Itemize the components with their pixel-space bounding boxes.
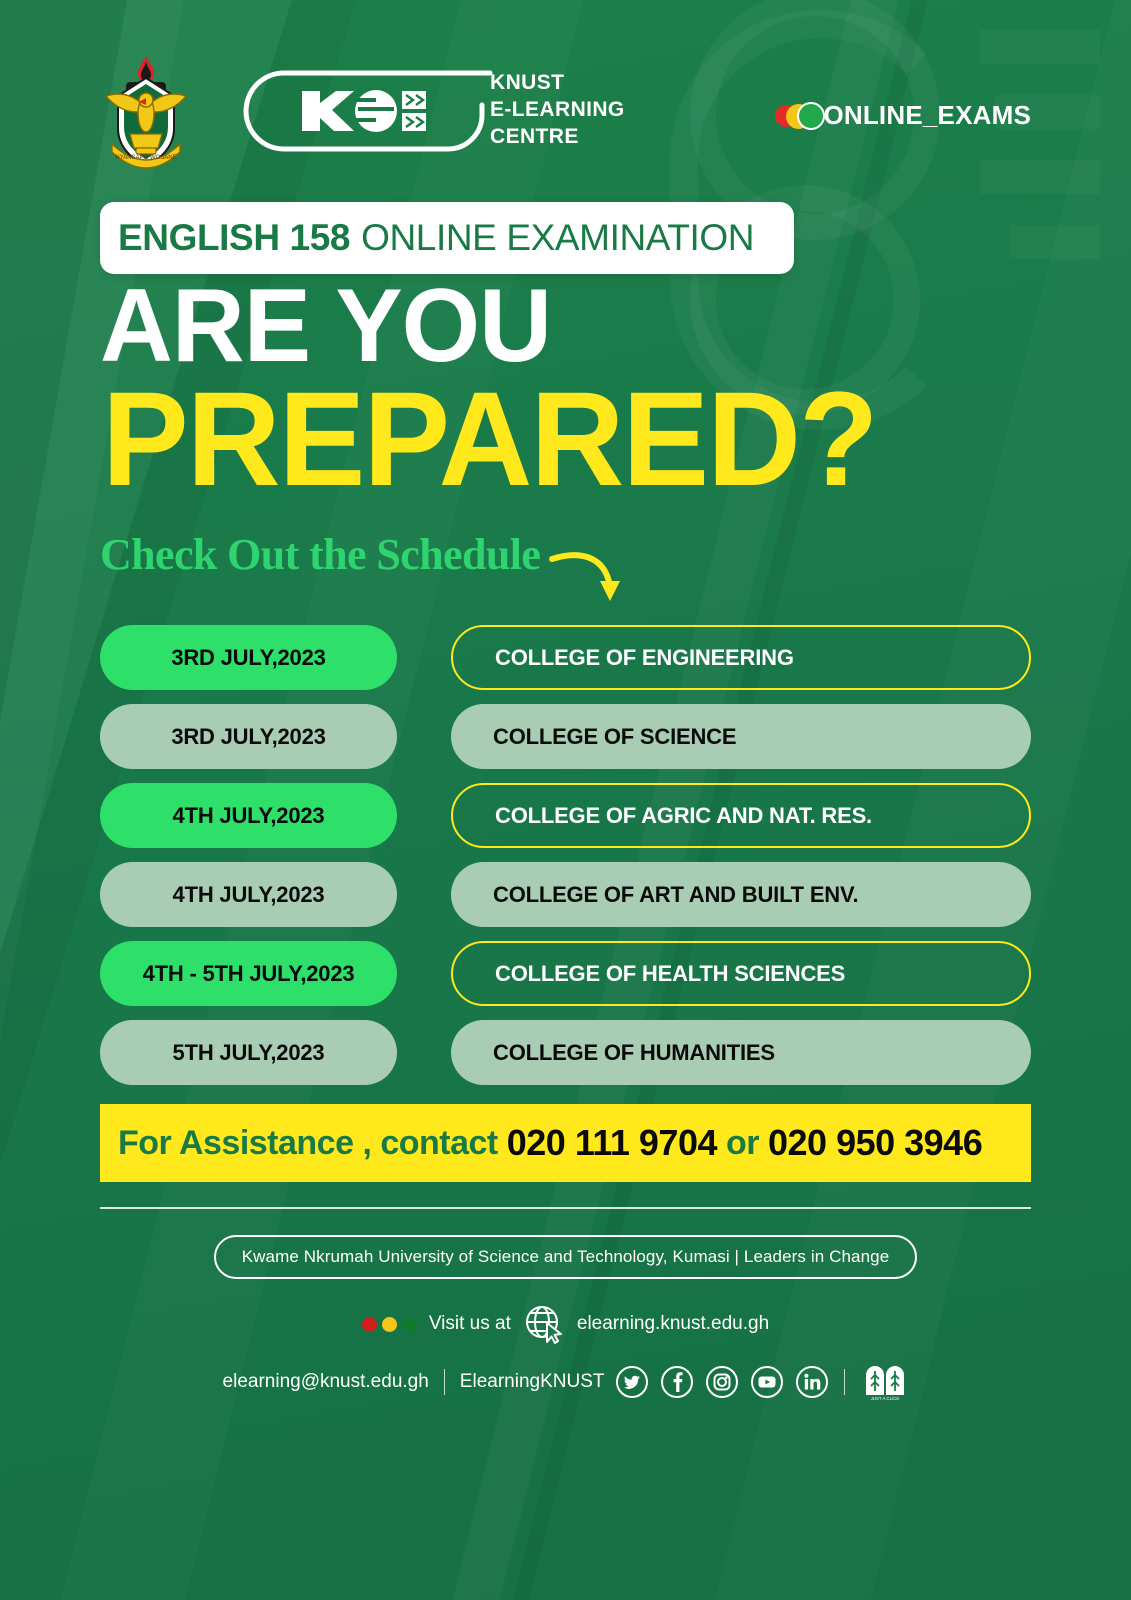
schedule-college: COLLEGE OF HEALTH SCIENCES (451, 941, 1031, 1006)
assistance-lead: For Assistance , contact (118, 1124, 498, 1163)
exam-course-code: ENGLISH 158 (118, 217, 350, 259)
poster: NYANSAPO WOSANE KNUST E-LEAR (0, 0, 1131, 1600)
exam-title-rest: ONLINE EXAMINATION (361, 217, 754, 259)
online-exams-label: ONLINE_EXAMS (823, 100, 1031, 131)
exam-title-banner: ENGLISH 158 ONLINE EXAMINATION (100, 202, 794, 274)
linkedin-icon[interactable] (795, 1365, 829, 1399)
schedule-row: 4TH JULY,2023 COLLEGE OF ART AND BUILT E… (100, 862, 1031, 927)
contact-email[interactable]: elearning@knust.edu.gh (223, 1371, 429, 1393)
schedule-college: COLLEGE OF SCIENCE (451, 704, 1031, 769)
assistance-phone-1: 020 111 9704 (507, 1122, 717, 1164)
footer-divider (100, 1207, 1031, 1209)
svg-text:NYANSAPO WOSANE: NYANSAPO WOSANE (115, 155, 176, 161)
assistance-phone-2: 020 950 3946 (768, 1122, 982, 1164)
tagline-row: Kwame Nkrumah University of Science and … (100, 1235, 1031, 1279)
traffic-dots-icon (775, 102, 823, 130)
twitter-icon[interactable] (615, 1365, 649, 1399)
kec-wordmark: KNUST E-LEARNING CENTRE (490, 70, 625, 151)
schedule-heading-label: Check Out the Schedule (100, 529, 540, 580)
ghana-dots-icon (362, 1317, 417, 1332)
kec-line-1: KNUST (490, 70, 625, 97)
just-a-click-label: JUST A CLICK (871, 1396, 900, 1401)
knust-crest-icon: NYANSAPO WOSANE (100, 48, 192, 173)
schedule-row: 3RD JULY,2023 COLLEGE OF SCIENCE (100, 704, 1031, 769)
schedule-date: 3RD JULY,2023 (100, 704, 397, 769)
partner-separator (844, 1369, 845, 1395)
schedule-heading: Check Out the Schedule (100, 529, 1031, 607)
facebook-icon[interactable] (660, 1365, 694, 1399)
header: NYANSAPO WOSANE KNUST E-LEAR (100, 0, 1031, 155)
assistance-conjunction: or (726, 1124, 759, 1163)
headline-line-1: ARE YOU (100, 278, 1003, 376)
schedule-college: COLLEGE OF HUMANITIES (451, 1020, 1031, 1085)
kec-line-3: CENTRE (490, 124, 625, 151)
social-handle: ElearningKNUST (460, 1371, 605, 1393)
schedule-college: COLLEGE OF ENGINEERING (451, 625, 1031, 690)
kec-line-2: E-LEARNING (490, 97, 625, 124)
social-row: elearning@knust.edu.gh ElearningKNUST (100, 1363, 1031, 1401)
schedule-date: 4TH - 5TH JULY,2023 (100, 941, 397, 1006)
schedule-date: 4TH JULY,2023 (100, 862, 397, 927)
globe-cursor-icon (523, 1303, 565, 1345)
schedule-date: 3RD JULY,2023 (100, 625, 397, 690)
schedule-college: COLLEGE OF ART AND BUILT ENV. (451, 862, 1031, 927)
schedule-list: 3RD JULY,2023 COLLEGE OF ENGINEERING 3RD… (100, 625, 1031, 1085)
curved-arrow-icon (548, 537, 638, 607)
assistance-banner: For Assistance , contact 020 111 9704 or… (100, 1104, 1031, 1182)
visit-row: Visit us at elearning.knust.edu.gh (100, 1303, 1031, 1345)
schedule-date: 5TH JULY,2023 (100, 1020, 397, 1085)
social-separator (444, 1369, 445, 1395)
schedule-college: COLLEGE OF AGRIC AND NAT. RES. (451, 783, 1031, 848)
visit-label: Visit us at (429, 1313, 511, 1335)
youtube-icon[interactable] (750, 1365, 784, 1399)
schedule-row: 3RD JULY,2023 COLLEGE OF ENGINEERING (100, 625, 1031, 690)
online-exams-badge: ONLINE_EXAMS (775, 100, 1031, 131)
instagram-icon[interactable] (705, 1365, 739, 1399)
headline-line-2: PREPARED? (102, 378, 1003, 501)
schedule-date: 4TH JULY,2023 (100, 783, 397, 848)
schedule-row: 4TH JULY,2023 COLLEGE OF AGRIC AND NAT. … (100, 783, 1031, 848)
just-a-click-icon: JUST A CLICK (862, 1363, 908, 1401)
headline: ARE YOU PREPARED? (100, 278, 1031, 501)
university-tagline: Kwame Nkrumah University of Science and … (214, 1235, 918, 1279)
schedule-row: 4TH - 5TH JULY,2023 COLLEGE OF HEALTH SC… (100, 941, 1031, 1006)
schedule-row: 5TH JULY,2023 COLLEGE OF HUMANITIES (100, 1020, 1031, 1085)
website-url[interactable]: elearning.knust.edu.gh (577, 1313, 769, 1335)
kec-logo-icon (198, 65, 498, 157)
